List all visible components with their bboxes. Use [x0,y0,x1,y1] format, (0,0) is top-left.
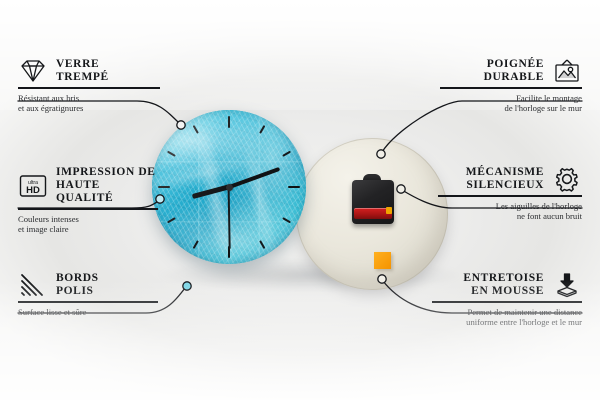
callout-head: BORDS POLIS [18,272,158,298]
callout-desc: Les aiguilles de l'horloge ne font aucun… [438,201,582,222]
callout-head: ENTRETOISE EN MOUSSE [432,272,582,298]
callout-desc: Résistant aux bris et aux égratignures [18,93,160,114]
callout-head: MÉCANISME SILENCIEUX [438,166,582,192]
callout-desc: Couleurs intenses et image claire [18,214,158,235]
polished-edges-icon [18,272,48,298]
callout-rule [432,301,582,303]
callout-impression-haute-qualite[interactable]: ultra HD IMPRESSION DE HAUTE QUALITÉ Cou… [18,166,158,235]
callout-head: ultra HD IMPRESSION DE HAUTE QUALITÉ [18,166,158,205]
clock-face [152,110,306,264]
callout-desc: Permet de maintenir une distance uniform… [432,307,582,328]
callout-bords-polis[interactable]: BORDS POLIS Surface lisse et sûre [18,272,158,317]
callout-title: POIGNÉE DURABLE [484,58,544,84]
callout-head: VERRE TREMPÉ [18,58,160,84]
callout-rule [18,87,160,89]
callout-title: MÉCANISME SILENCIEUX [466,166,544,192]
battery-positive-terminal [386,207,392,214]
callout-rule [438,195,582,197]
infographic-canvas: VERRE TREMPÉ Résistant aux bris et aux é… [0,0,600,400]
callout-desc: Facilite le montage de l'horloge sur le … [440,93,582,114]
callout-entretoise-en-mousse[interactable]: ENTRETOISE EN MOUSSE Permet de maintenir… [432,272,582,328]
ultra-hd-icon: ultra HD [18,173,48,199]
callout-rule [440,87,582,89]
callout-mecanisme-silencieux[interactable]: MÉCANISME SILENCIEUX Les aiguilles de l'… [438,166,582,222]
clock-glass-edge [152,110,306,264]
callout-rule [18,301,158,303]
callout-desc: Surface lisse et sûre [18,307,158,318]
gear-icon [552,166,582,192]
foam-spacer-icon [552,272,582,298]
callout-poignee-durable[interactable]: POIGNÉE DURABLE Facilite le montage de l… [440,58,582,114]
callout-title: ENTRETOISE EN MOUSSE [463,272,544,298]
ultra-hd-icon-bottom-label: HD [26,185,40,196]
foam-spacer [374,252,391,269]
hanging-frame-icon [552,58,582,84]
diamond-icon [18,58,48,84]
callout-verre-trempe[interactable]: VERRE TREMPÉ Résistant aux bris et aux é… [18,58,160,114]
callout-title: VERRE TREMPÉ [56,58,109,84]
callout-title: BORDS POLIS [56,272,99,298]
callout-rule [18,208,158,210]
callout-title: IMPRESSION DE HAUTE QUALITÉ [56,166,158,205]
callout-head: POIGNÉE DURABLE [440,58,582,84]
